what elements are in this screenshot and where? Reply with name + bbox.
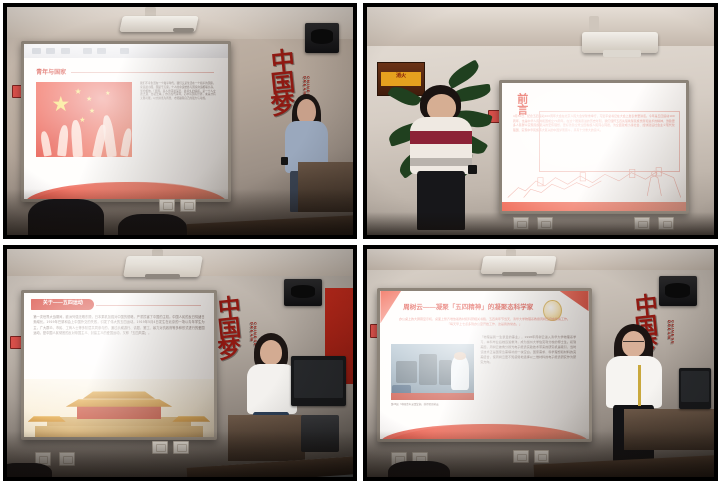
projector-lens	[502, 272, 537, 277]
collage-cell-top-left: 中 国 梦 CHINESE DREAM 青年与国家	[0, 0, 360, 242]
flag-star-small-1: ★	[74, 88, 81, 96]
presenter-torso	[247, 364, 297, 414]
projection-screen-frame: 周树云——凝聚「五四精神」的凝聚态科学家 办公桌上的大屏幕显示机，桌面上整齐堆放…	[377, 288, 591, 442]
scene-top-right: 消火 前言	[367, 7, 714, 235]
slide-photo-caption: 第23届「中国青年五四奖章」获得者周树云	[391, 402, 474, 406]
presenter-lanyard	[638, 365, 641, 406]
wall-speaker	[305, 23, 340, 53]
presentation-toolbar[interactable]	[24, 44, 228, 59]
slide-about-may-fourth-movement: 关于——五四运动 第一次世界大战期间，欧洲列强无暇东顾，日本乘机加强对中国的侵略…	[24, 293, 214, 437]
raised-hand-1	[39, 131, 51, 157]
title-underline	[96, 305, 201, 306]
presenter-shirt-stripe	[410, 131, 472, 144]
slide-great-wall-lineart	[506, 166, 683, 199]
presenter-head	[260, 340, 282, 365]
wall-art-chinese-dream: 中 国 梦 CHINESE DREAM	[218, 297, 248, 360]
slide-title: 周树云——凝聚「五四精神」的凝聚态科学家	[403, 301, 533, 311]
slide-body-text: 「物理是我一生挚爱的事业」，1998年周树云进入清华大学物理系学习，本科毕业后她…	[480, 335, 576, 365]
presenter-torso	[606, 356, 662, 408]
projection-screen: 前言 4月30日，纪念五四运动100周年大会在北京人民大会堂隆重举行，习近平总书…	[502, 83, 686, 211]
slide-title: 前言	[515, 93, 527, 115]
lab-equipment-2	[419, 354, 437, 384]
scene-bottom-right: 中 国 梦 CHINESE DREAM 周树云——凝聚「五四精神」的凝聚态科学家	[367, 249, 714, 477]
raised-hand-5	[101, 115, 116, 157]
lab-equipment-1	[396, 361, 418, 384]
scene-top-left: 中 国 梦 CHINESE DREAM 青年与国家	[7, 7, 353, 235]
photo-bottom-left: 中 国 梦 CHINESE DREAM 关于——五四运动	[3, 245, 357, 481]
projector-lens	[603, 50, 641, 57]
projector-lens	[145, 274, 180, 279]
photo-bottom-right: 中 国 梦 CHINESE DREAM 周树云——凝聚「五四精神」的凝聚态科学家	[363, 245, 718, 481]
photo-top-left: 中 国 梦 CHINESE DREAM 青年与国家	[3, 3, 357, 239]
wall-art-english: CHINESE DREAM	[667, 320, 674, 358]
presenter-remote	[468, 165, 477, 173]
computer-monitor	[291, 356, 346, 406]
flag-star-small-2: ★	[86, 96, 92, 103]
slide-lab-photo	[391, 344, 474, 400]
presenter-glasses	[623, 341, 644, 346]
photo-collage: 中 国 梦 CHINESE DREAM 青年与国家	[0, 0, 721, 484]
slide-body-text: 我们不幸生活在一个和平年代，我们又是生活在一个和平的国家。家是最小国，国是千万家…	[140, 82, 216, 101]
slide-border-box	[539, 111, 681, 172]
lab-scientist	[451, 355, 469, 390]
fc-side-roof-right	[172, 415, 210, 422]
slide-title: 关于——五四运动	[43, 300, 83, 306]
collage-cell-bottom-left: 中 国 梦 CHINESE DREAM 关于——五四运动	[0, 242, 360, 484]
collage-cell-bottom-right: 中 国 梦 CHINESE DREAM 周树云——凝聚「五四精神」的凝聚态科学家	[360, 242, 721, 484]
projection-screen-frame: 青年与国家 ★ ★ ★ ★ ★ ★	[21, 41, 231, 202]
lab-scientist-head	[454, 352, 466, 360]
computer-monitor	[679, 368, 710, 409]
photo-top-right: 消火 前言	[363, 3, 718, 239]
projection-screen: 周树云——凝聚「五四精神」的凝聚态科学家 办公桌上的大屏幕显示机，桌面上整齐堆放…	[380, 291, 588, 439]
slide-zhou-shuyun: 周树云——凝聚「五四精神」的凝聚态科学家 办公桌上的大屏幕显示机，桌面上整齐堆放…	[380, 291, 588, 439]
raised-hand-2	[57, 125, 69, 157]
projector-lens	[173, 28, 194, 33]
room-ceiling	[367, 7, 714, 46]
flag-star-small-5: ★	[105, 91, 110, 97]
presenter-top-right	[409, 85, 475, 226]
raised-hand-6	[121, 128, 132, 157]
projection-screen-frame: 关于——五四运动 第一次世界大战期间，欧洲列强无暇东顾，日本乘机加强对中国的侵略…	[21, 290, 217, 440]
slide-title: 青年与国家	[36, 67, 66, 76]
lab-floor	[391, 393, 474, 401]
slide-subtitle: 办公桌上的大屏幕显示机，桌面上整齐堆放着教材和科研相关书籍，五四青年节当天，清华…	[397, 317, 572, 327]
slide-forbidden-city-image	[24, 379, 214, 436]
presenter-remote	[281, 157, 287, 165]
fc-side-roof-left	[28, 415, 66, 422]
flag-star-big: ★	[51, 94, 70, 115]
projection-screen: 青年与国家 ★ ★ ★ ★ ★ ★	[24, 44, 228, 199]
slide-footer-band	[502, 202, 686, 211]
slide-youth-and-country: 青年与国家 ★ ★ ★ ★ ★ ★	[24, 58, 228, 199]
flag-star-small-4: ★	[79, 117, 85, 124]
collage-cell-top-right: 消火 前言	[360, 0, 721, 242]
floor-shadow	[367, 431, 714, 477]
floor-shadow	[367, 212, 714, 235]
raised-hand-3	[70, 119, 82, 157]
title-underline	[71, 72, 214, 73]
scene-bottom-left: 中 国 梦 CHINESE DREAM 关于——五四运动	[7, 249, 353, 477]
floor-shadow	[7, 431, 353, 477]
projection-screen-frame: 前言 4月30日，纪念五四运动100周年大会在北京人民大会堂隆重举行，习近平总书…	[499, 80, 689, 214]
slide-title-ribbon: 关于——五四运动	[31, 299, 94, 310]
slide-body-text: 第一次世界大战期间，欧洲列强无暇东顾，日本乘机加强对中国的侵略，严重损害了中国的…	[33, 315, 204, 337]
slide-flag-image: ★ ★ ★ ★ ★ ★	[36, 82, 132, 157]
wall-art-glyph-3: 梦	[217, 338, 249, 362]
wall-speaker	[284, 279, 322, 306]
flag-star-small-3: ★	[89, 108, 95, 115]
fc-upper-roof	[83, 391, 155, 399]
floor-shadow	[7, 189, 353, 235]
projection-screen: 关于——五四运动 第一次世界大战期间，欧洲列强无暇东顾，日本乘机加强对中国的侵略…	[24, 293, 214, 437]
slide-preface: 前言 4月30日，纪念五四运动100周年大会在北京人民大会堂隆重举行，习近平总书…	[502, 83, 686, 211]
presenter-shirt-stripe-2	[410, 158, 472, 166]
